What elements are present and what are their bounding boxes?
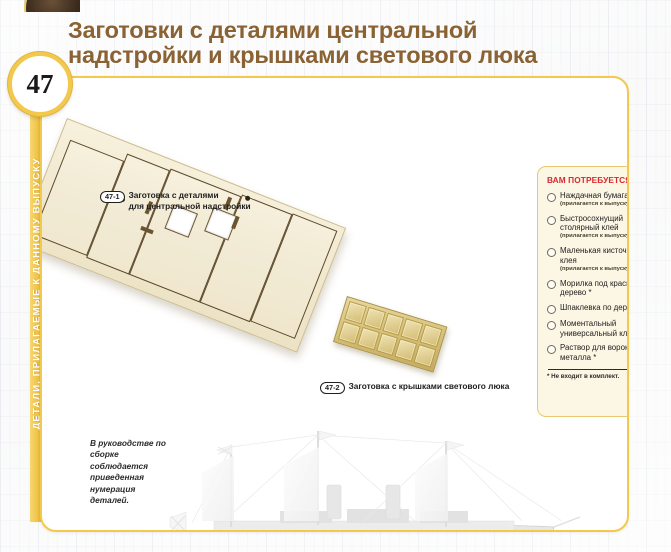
ship-model-photo xyxy=(162,423,582,532)
material-note: (прилагается к выпуску 1) xyxy=(560,266,629,274)
checkbox-icon[interactable] xyxy=(547,280,556,289)
brass-cell xyxy=(420,324,443,347)
brass-fret-body xyxy=(333,296,447,373)
materials-footnote: * Не входит в комплект. xyxy=(547,373,629,381)
callout-47-1: 47-1 Заготовка с деталями для центрально… xyxy=(100,190,300,211)
material-label: Морилка под красное дерево * xyxy=(560,279,629,298)
laser-cut-plywood-sheet xyxy=(67,118,382,333)
material-item[interactable]: Раствор для воронения металла * xyxy=(547,343,629,362)
page-title-line-1: Заготовки с деталями центральной xyxy=(68,17,477,43)
photo-etched-brass-fret xyxy=(347,296,477,381)
callout-line-2: для центральной надстройки xyxy=(129,201,251,211)
material-name: Маленькая кисточка для клея xyxy=(560,246,629,264)
materials-panel-title: ВАМ ПОТРЕБУЕТСЯ: xyxy=(547,175,629,185)
content-card: 47-1 Заготовка с деталями для центрально… xyxy=(40,76,629,532)
logo-disc xyxy=(24,0,80,12)
callout-label: Заготовка с деталями для центральной над… xyxy=(129,190,251,211)
material-note: (прилагается к выпуску 1) xyxy=(560,233,629,241)
plywood-sheet-body xyxy=(40,118,346,353)
callout-47-2: 47-2 Заготовка с крышками светового люка xyxy=(320,381,550,394)
assembly-note: В руководстве по сборке соблюдается прив… xyxy=(90,438,176,506)
page-number-badge: 47 xyxy=(8,52,72,116)
material-item[interactable]: Морилка под красное дерево * xyxy=(547,279,629,298)
material-item[interactable]: Маленькая кисточка для клея (прилагается… xyxy=(547,246,629,273)
callout-label: Заготовка с крышками светового люка xyxy=(349,381,510,392)
material-name: Наждачная бумага xyxy=(560,191,629,200)
brass-cell xyxy=(414,344,437,367)
checkbox-icon[interactable] xyxy=(547,305,556,314)
material-label: Моментальный универсальный клей * xyxy=(560,319,629,338)
material-label: Раствор для воронения металла * xyxy=(560,343,629,362)
checkbox-icon[interactable] xyxy=(547,193,556,202)
page-title: Заготовки с деталями центральной надстро… xyxy=(68,18,663,69)
material-label: Быстросохнущий столярный клей (прилагает… xyxy=(560,214,629,241)
part-reference-badge: 47-1 xyxy=(100,191,125,203)
checkbox-icon[interactable] xyxy=(547,248,556,257)
material-item[interactable]: Быстросохнущий столярный клей (прилагает… xyxy=(547,214,629,241)
page-number-value: 47 xyxy=(27,71,54,98)
callout-line-1: Заготовка с деталями xyxy=(129,190,219,200)
material-item[interactable]: Моментальный универсальный клей * xyxy=(547,319,629,338)
checkbox-icon[interactable] xyxy=(547,321,556,330)
material-label: Маленькая кисточка для клея (прилагается… xyxy=(560,246,629,273)
material-item[interactable]: Наждачная бумага (прилагается к выпуску … xyxy=(547,191,629,209)
material-note: (прилагается к выпуску 1) xyxy=(560,201,629,209)
checkbox-icon[interactable] xyxy=(547,216,556,225)
part-reference-badge: 47-2 xyxy=(320,382,345,394)
materials-divider xyxy=(548,369,629,370)
materials-panel: ВАМ ПОТРЕБУЕТСЯ: Наждачная бумага (прила… xyxy=(537,166,629,417)
material-label: Наждачная бумага (прилагается к выпуску … xyxy=(560,191,629,209)
checkbox-icon[interactable] xyxy=(547,345,556,354)
material-label: Шпаклевка по дереву * xyxy=(560,303,629,312)
brass-cell-grid xyxy=(338,301,442,368)
material-item[interactable]: Шпаклевка по дереву * xyxy=(547,303,629,314)
material-name: Быстросохнущий столярный клей xyxy=(560,214,623,232)
page-title-line-2: надстройки и крышками светового люка xyxy=(68,43,663,69)
publisher-logo-icon xyxy=(24,0,80,12)
